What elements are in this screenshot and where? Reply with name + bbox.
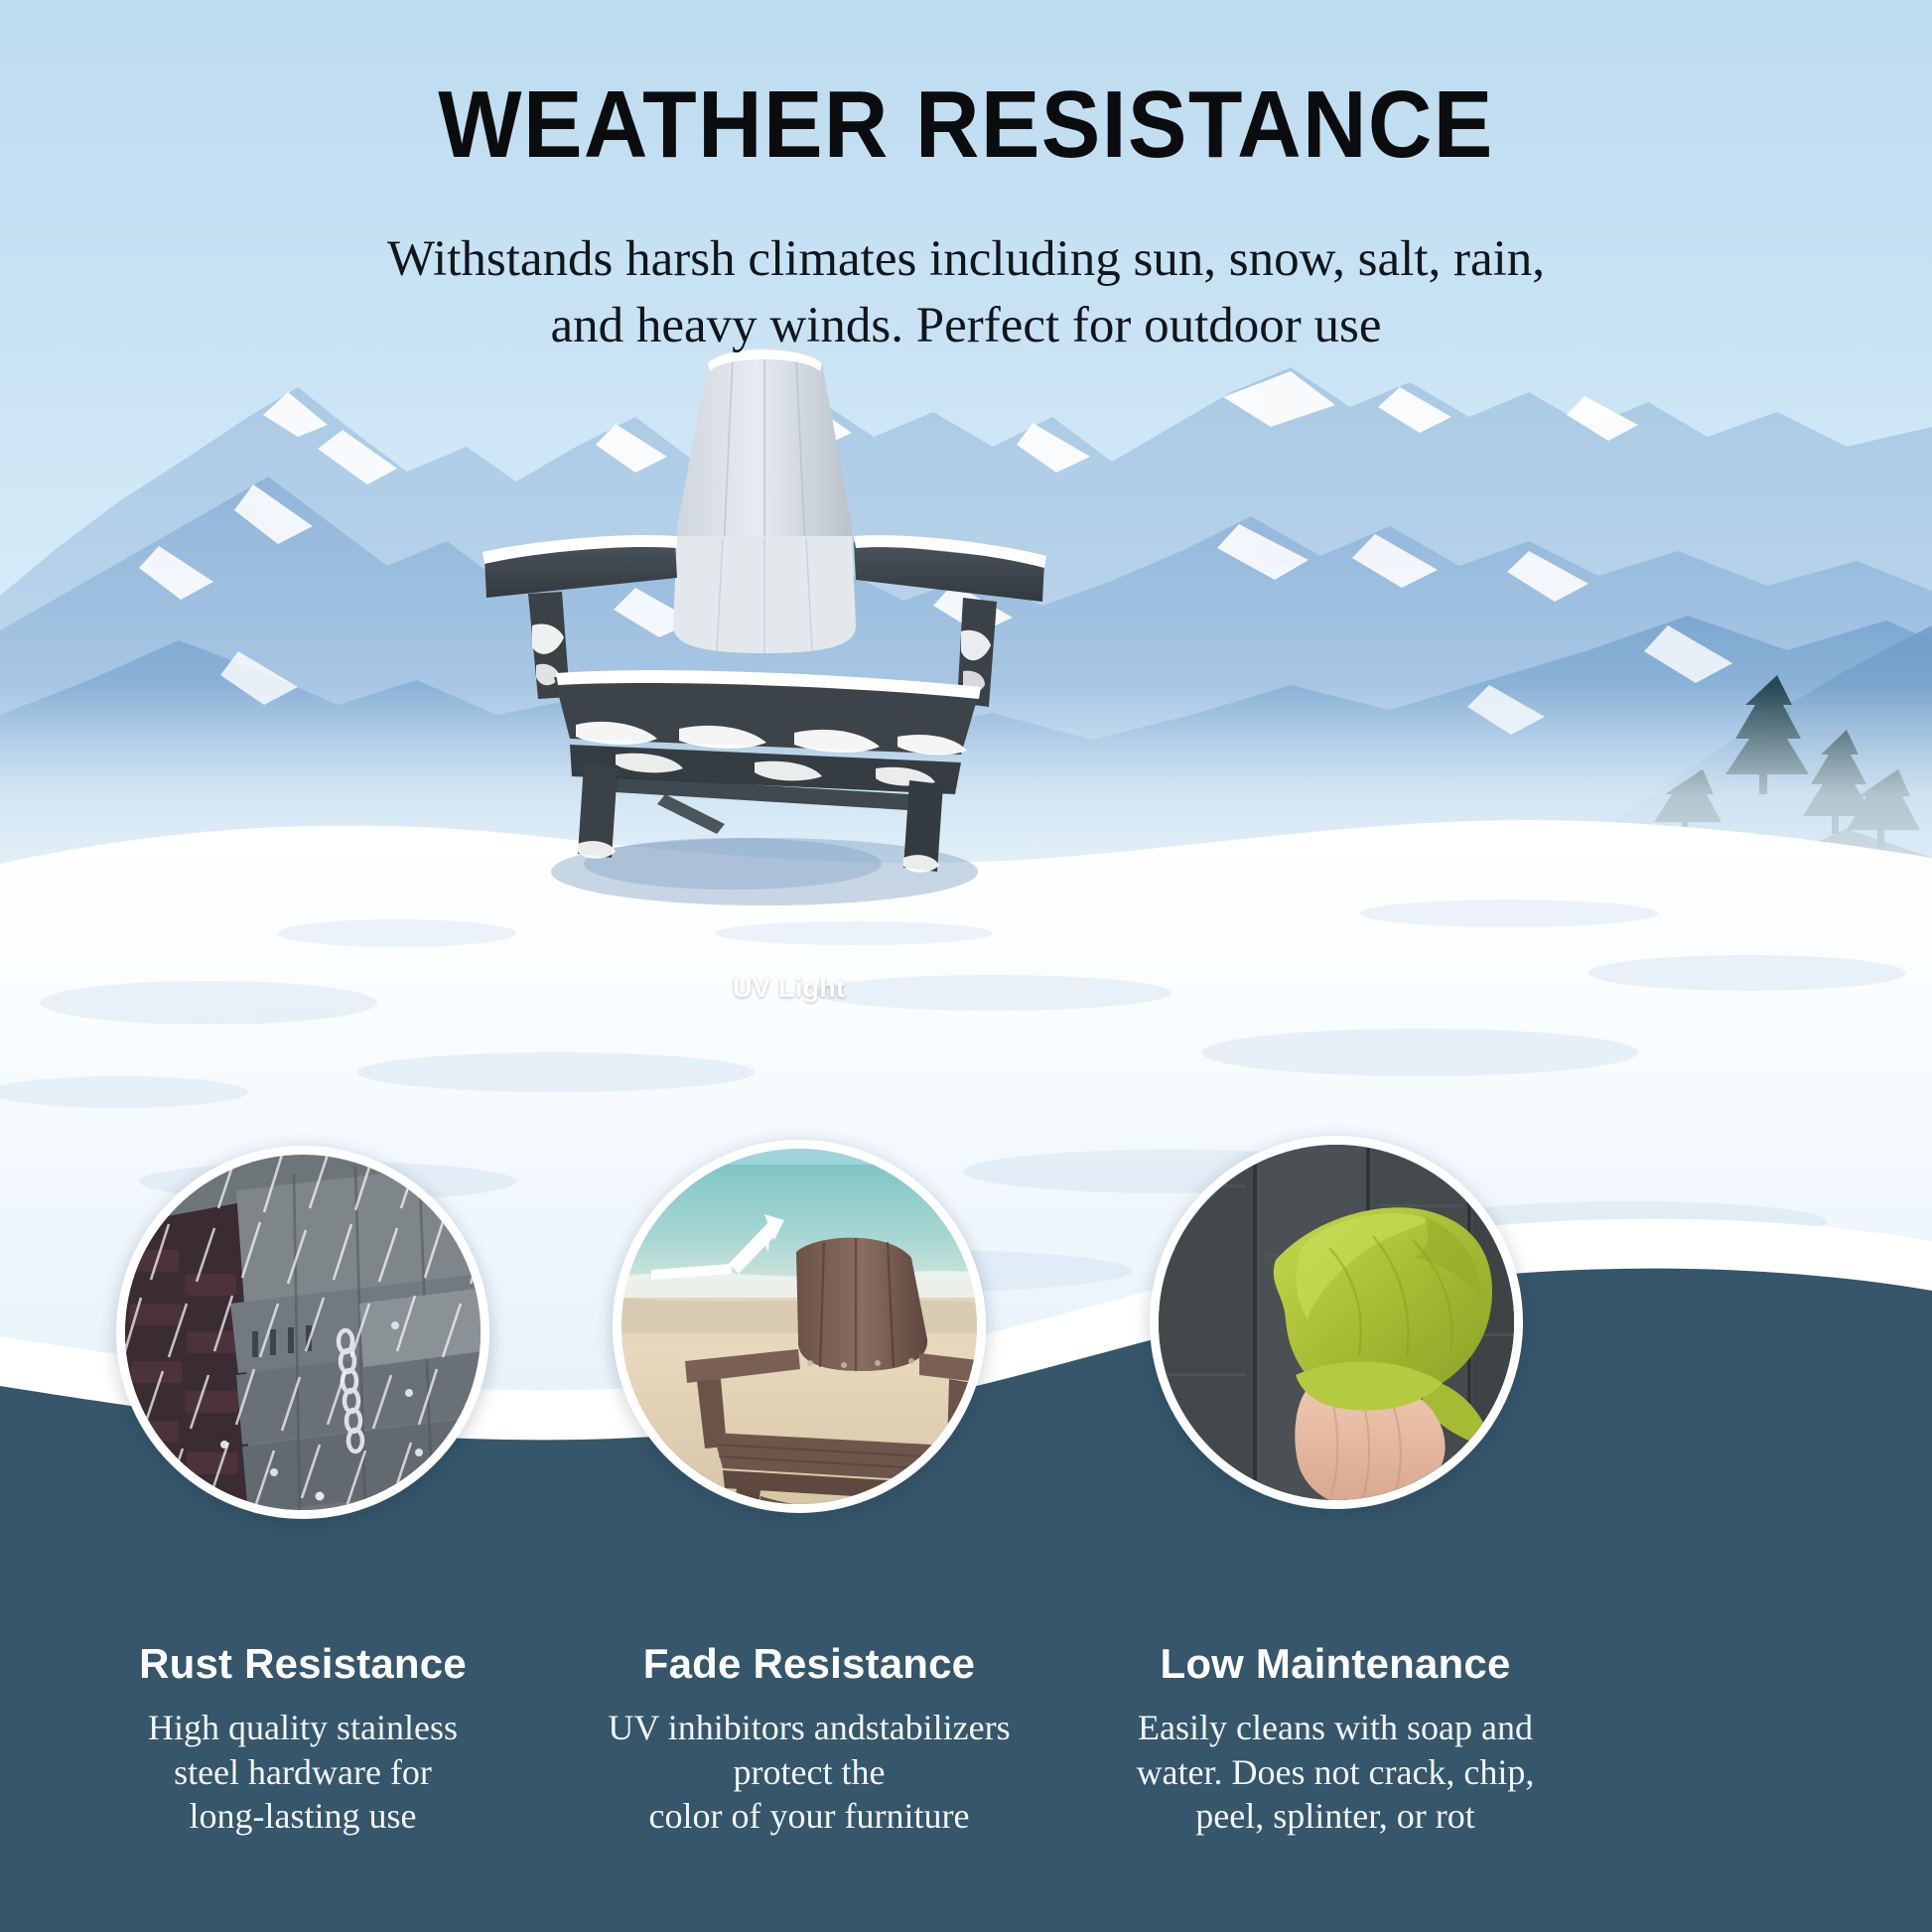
feature-image-rust-resistance[interactable] [116,1146,489,1519]
feature-body-line: steel hardware for [45,1750,561,1795]
subtitle-line-2: and heavy winds. Perfect for outdoor use [0,293,1932,359]
uv-light-label: UV Light [733,973,845,1004]
page-title: WEATHER RESISTANCE [68,77,1864,173]
feature-body-line: peel, splinter, or rot [1077,1794,1593,1839]
feature-body-line: color of your furniture [551,1794,1067,1839]
feature-title-rust-resistance: Rust Resistance [45,1640,561,1688]
feature-body-rust-resistance: High quality stainless steel hardware fo… [45,1706,561,1839]
feature-image-fade-resistance[interactable] [613,1140,986,1513]
page-subtitle: Withstands harsh climates including sun,… [0,226,1932,360]
feature-title-fade-resistance: Fade Resistance [551,1640,1067,1688]
subtitle-line-1: Withstands harsh climates including sun,… [0,226,1932,293]
feature-body-line: UV inhibitors andstabilizers [551,1706,1067,1750]
hero-chair-image [467,328,1062,923]
feature-body-line: water. Does not crack, chip, [1077,1750,1593,1795]
feature-title-low-maintenance: Low Maintenance [1077,1640,1593,1688]
feature-rust-resistance: Rust Resistance High quality stainless s… [45,1640,561,1839]
feature-image-low-maintenance[interactable] [1150,1136,1523,1509]
feature-body-line: High quality stainless [45,1706,561,1750]
feature-body-low-maintenance: Easily cleans with soap and water. Does … [1077,1706,1593,1839]
feature-fade-resistance: Fade Resistance UV inhibitors andstabili… [551,1640,1067,1839]
feature-body-line: protect the [551,1750,1067,1795]
feature-body-fade-resistance: UV inhibitors andstabilizers protect the… [551,1706,1067,1839]
feature-low-maintenance: Low Maintenance Easily cleans with soap … [1077,1640,1593,1839]
infographic-canvas: UV Light [0,0,1932,1932]
feature-body-line: long-lasting use [45,1794,561,1839]
feature-body-line: Easily cleans with soap and [1077,1706,1593,1750]
